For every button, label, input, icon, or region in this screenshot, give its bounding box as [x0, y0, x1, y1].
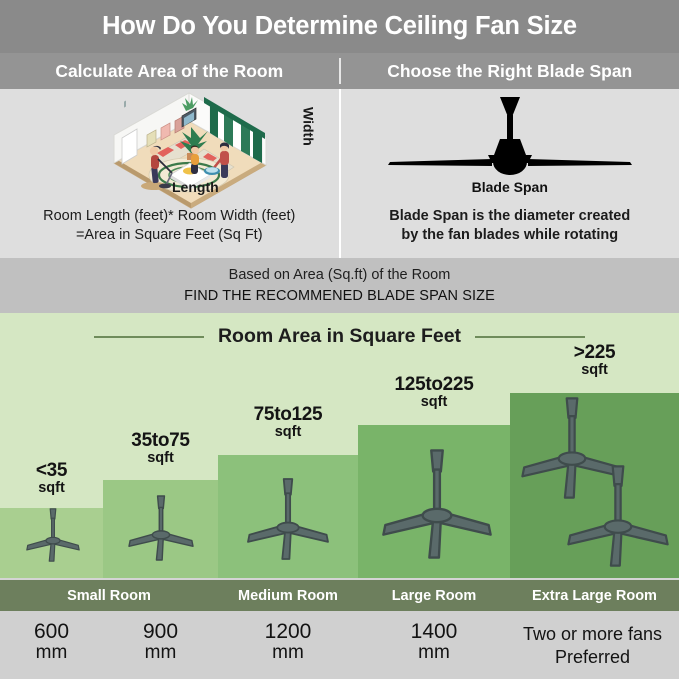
chart-bar-label-4: 125to225 sqft — [358, 375, 510, 410]
chart-bar-label-2: 35to75 sqft — [103, 431, 218, 466]
chart-bar-label-3: 75to125 sqft — [218, 405, 358, 440]
measurement-value-2: 900 — [103, 621, 218, 643]
room-type-medium: Medium Room — [218, 580, 358, 611]
subtitle-right-label: Choose the Right Blade Span — [387, 61, 632, 82]
blade-span-caption: Blade Span — [341, 179, 679, 195]
area-formula-line2: =Area in Square Feet (Sq Ft) — [0, 226, 339, 244]
room-type-label-small: Small Room — [67, 588, 151, 604]
panel-blade-span: Blade Span Blade Span is the diameter cr… — [341, 89, 679, 258]
room-type-band: Small Room Medium Room Large Room Extra … — [0, 580, 679, 611]
chart-bar-label-5: >225 sqft — [510, 343, 679, 378]
measurement-3: 1200 mm — [218, 621, 358, 663]
measurement-unit-1: mm — [0, 643, 103, 663]
measurement-value-3: 1200 — [218, 621, 358, 643]
chart-bar-amount-3: 75to125 — [218, 405, 358, 424]
room-type-label-large: Large Room — [392, 588, 477, 604]
fan-icon-3 — [238, 474, 338, 569]
length-axis-label: Length — [172, 179, 219, 195]
instruction-band: Based on Area (Sq.ft) of the Room FIND T… — [0, 258, 679, 313]
area-formula-line1: Room Length (feet)* Room Width (feet) — [0, 207, 339, 225]
measurement-band: 600 mm 900 mm 1200 mm 1400 mm Two or mor… — [0, 611, 679, 679]
panel-calculate-area: Width Length Room Length (feet)* Room Wi… — [0, 89, 339, 258]
measurement-unit-4: mm — [358, 643, 510, 663]
room-area-chart: Room Area in Square Feet <35 sqft — [0, 313, 679, 578]
measurement-unit-2: mm — [103, 643, 218, 663]
chart-title: Room Area in Square Feet — [218, 325, 461, 348]
measurement-1: 600 mm — [0, 621, 103, 663]
room-type-large: Large Room — [358, 580, 510, 611]
subtitle-left-label: Calculate Area of the Room — [55, 61, 283, 82]
measurement-extra-line1: Two or more fans — [523, 624, 662, 644]
room-type-small: Small Room — [0, 580, 218, 611]
chart-bar-unit-2: sqft — [103, 451, 218, 466]
measurement-value-4: 1400 — [358, 621, 510, 643]
infographic-root: How Do You Determine Ceiling Fan Size Ca… — [0, 0, 679, 679]
chart-heading-rule-left — [94, 336, 204, 338]
panels-row: Width Length Room Length (feet)* Room Wi… — [0, 89, 679, 258]
chart-bar-unit-5: sqft — [510, 363, 679, 378]
chart-bar-amount-5: >225 — [510, 343, 679, 362]
room-type-label-medium: Medium Room — [238, 588, 338, 604]
chart-bar-amount-1: <35 — [0, 461, 103, 480]
measurement-2: 900 mm — [103, 621, 218, 663]
measurement-5: Two or more fans Preferred — [506, 623, 679, 669]
blade-span-definition-line2: by the fan blades while rotating — [341, 226, 679, 244]
instruction-line2: FIND THE RECOMMENED BLADE SPAN SIZE — [184, 288, 495, 304]
chart-bar-unit-1: sqft — [0, 481, 103, 496]
width-axis-label: Width — [301, 107, 317, 151]
fan-icon-2 — [121, 492, 201, 569]
subtitle-right: Choose the Right Blade Span — [341, 53, 679, 89]
room-type-label-extra-large: Extra Large Room — [532, 588, 657, 604]
fan-icon-4 — [370, 444, 504, 569]
measurement-extra-line2: Preferred — [555, 647, 630, 667]
fan-icon-5b — [556, 461, 679, 576]
measurement-value-1: 600 — [0, 621, 103, 643]
measurement-unit-3: mm — [218, 643, 358, 663]
chart-bar-unit-3: sqft — [218, 425, 358, 440]
chart-bar-label-1: <35 sqft — [0, 461, 103, 496]
instruction-line1: Based on Area (Sq.ft) of the Room — [229, 267, 451, 283]
measurement-4: 1400 mm — [358, 621, 510, 663]
fan-icon-1 — [20, 506, 86, 569]
subtitle-left: Calculate Area of the Room — [0, 53, 339, 89]
subtitle-bar: Calculate Area of the Room Choose the Ri… — [0, 53, 679, 89]
ceiling-fan-silhouette-icon — [360, 95, 660, 182]
chart-bar-unit-4: sqft — [358, 395, 510, 410]
title-bar: How Do You Determine Ceiling Fan Size — [0, 0, 679, 53]
chart-bar-amount-4: 125to225 — [358, 375, 510, 394]
blade-span-definition-line1: Blade Span is the diameter created — [341, 207, 679, 225]
page-title: How Do You Determine Ceiling Fan Size — [102, 12, 577, 41]
room-type-extra-large: Extra Large Room — [510, 580, 679, 611]
isometric-room-illustration — [44, 91, 294, 214]
chart-bar-amount-2: 35to75 — [103, 431, 218, 450]
chart-heading-rule-right — [475, 336, 585, 338]
